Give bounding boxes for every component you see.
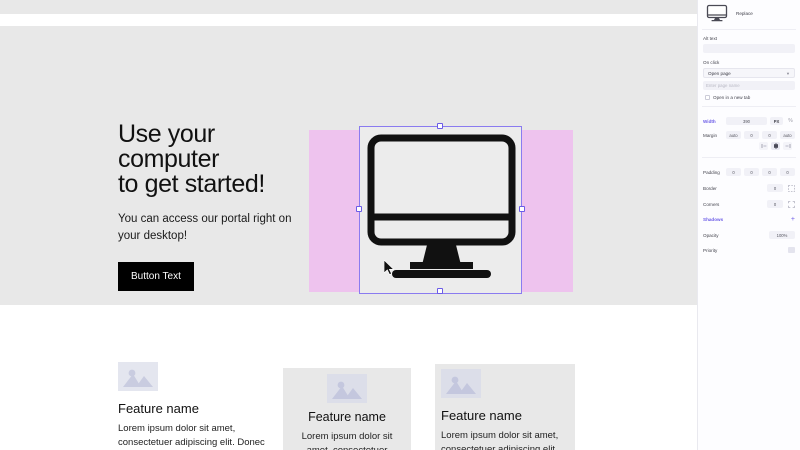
canvas-white-band [0, 14, 697, 26]
opacity-label: Opacity [703, 233, 719, 238]
feature-card[interactable]: Feature name Lorem ipsum dolor sit amet,… [435, 364, 575, 450]
border-row: Border 0 [698, 184, 800, 192]
align-center-icon[interactable] [771, 142, 780, 150]
width-unit-percent-button[interactable]: % [786, 118, 795, 124]
padding-top-input[interactable]: 0 [726, 168, 741, 176]
margin-right-input[interactable]: auto [780, 131, 795, 139]
feature-card-body: Lorem ipsum dolor sit amet, consectetuer… [441, 429, 569, 450]
hero-title-line1: Use your computer [118, 122, 308, 172]
width-input[interactable]: 390 [726, 117, 767, 125]
replace-image-button[interactable]: Replace [736, 11, 753, 16]
panel-divider [702, 106, 796, 107]
image-placeholder-icon [118, 362, 158, 391]
page-canvas[interactable]: Use your computer to get started! You ca… [0, 0, 697, 450]
corners-row: Corners 0 [698, 200, 800, 208]
feature-card-body: Lorem ipsum dolor sit amet, consectetuer… [291, 430, 403, 450]
mouse-cursor-icon [384, 260, 395, 275]
opacity-row: Opacity 100% [698, 231, 800, 239]
padding-right-input[interactable]: 0 [744, 168, 759, 176]
width-unit-px-button[interactable]: PX [770, 117, 783, 125]
resize-handle-right[interactable] [519, 206, 525, 212]
shadows-row: Shadows + [698, 216, 800, 223]
hero-section[interactable]: Use your computer to get started! You ca… [0, 26, 697, 305]
priority-toggle[interactable] [788, 247, 795, 253]
padding-left-input[interactable]: 0 [780, 168, 795, 176]
feature-card-title: Feature name [291, 410, 403, 424]
margin-row: Margin auto 0 0 auto [703, 131, 795, 139]
padding-row: Padding 0 0 0 0 [703, 168, 795, 176]
priority-row: Priority [698, 247, 800, 253]
margin-top-input[interactable]: 0 [744, 131, 759, 139]
margin-bottom-input[interactable]: 0 [762, 131, 777, 139]
panel-divider [702, 29, 796, 30]
corners-input[interactable]: 0 [767, 200, 783, 208]
alt-text-section: Alt text [698, 32, 800, 53]
margin-left-input[interactable]: auto [726, 131, 741, 139]
width-section: Width 390 PX % Margin auto 0 0 auto [698, 109, 800, 150]
image-placeholder-icon [441, 369, 481, 398]
image-placeholder-icon [327, 374, 367, 403]
resize-handle-left[interactable] [356, 206, 362, 212]
alignment-controls [703, 142, 795, 150]
on-click-section: On click Open page ▼ Enter page name Ope… [698, 53, 800, 100]
resize-handle-bottom[interactable] [437, 288, 443, 294]
hero-title-line2: to get started! [118, 172, 308, 197]
panel-divider [702, 157, 796, 158]
feature-card[interactable]: Feature name Lorem ipsum dolor sit amet,… [283, 368, 411, 450]
image-thumbnail-row[interactable]: Replace [698, 0, 800, 27]
on-click-select[interactable]: Open page ▼ [703, 68, 795, 78]
editor-window: Use your computer to get started! You ca… [0, 0, 800, 450]
on-click-selected-value: Open page [708, 71, 731, 76]
hero-cta-button[interactable]: Button Text [118, 262, 194, 291]
feature-card-body: Lorem ipsum dolor sit amet, consectetuer… [118, 422, 273, 450]
canvas-top-band [0, 0, 697, 14]
corner-radius-icon[interactable] [787, 200, 795, 208]
border-label: Border [703, 186, 717, 191]
corners-label: Corners [703, 202, 719, 207]
hero-subtitle: You can access our portal right on your … [118, 211, 308, 245]
width-row: Width 390 PX % [703, 117, 795, 125]
monitor-thumbnail-icon [705, 4, 729, 22]
alt-text-label: Alt text [703, 36, 795, 41]
open-new-tab-label: Open in a new tab [713, 95, 750, 100]
page-name-input[interactable]: Enter page name [703, 81, 795, 90]
chevron-down-icon: ▼ [786, 71, 790, 76]
shadows-label: Shadows [703, 217, 723, 222]
add-shadow-button[interactable]: + [791, 216, 795, 223]
hero-text-block[interactable]: Use your computer to get started! You ca… [118, 122, 308, 291]
priority-label: Priority [703, 248, 717, 253]
resize-handle-top[interactable] [437, 123, 443, 129]
width-label: Width [703, 119, 723, 124]
feature-card[interactable]: Feature name Lorem ipsum dolor sit amet,… [118, 362, 273, 450]
image-thumbnail[interactable] [704, 3, 730, 23]
feature-card-title: Feature name [441, 408, 569, 423]
features-section[interactable]: Feature name Lorem ipsum dolor sit amet,… [0, 305, 697, 450]
margin-label: Margin [703, 133, 723, 138]
alt-text-input[interactable] [703, 44, 795, 53]
open-new-tab-checkbox[interactable] [705, 95, 710, 100]
border-sides-icon[interactable] [787, 184, 795, 192]
padding-label: Padding [703, 170, 723, 175]
padding-section: Padding 0 0 0 0 [698, 160, 800, 176]
on-click-label: On click [703, 60, 795, 65]
feature-card-title: Feature name [118, 401, 273, 416]
border-input[interactable]: 0 [767, 184, 783, 192]
align-left-icon[interactable] [759, 142, 768, 150]
open-new-tab-row[interactable]: Open in a new tab [703, 95, 795, 100]
properties-panel[interactable]: Replace Alt text On click Open page ▼ En… [697, 0, 800, 450]
hero-title: Use your computer to get started! [118, 122, 308, 197]
opacity-input[interactable]: 100% [769, 231, 795, 239]
padding-bottom-input[interactable]: 0 [762, 168, 777, 176]
align-right-icon[interactable] [783, 142, 792, 150]
